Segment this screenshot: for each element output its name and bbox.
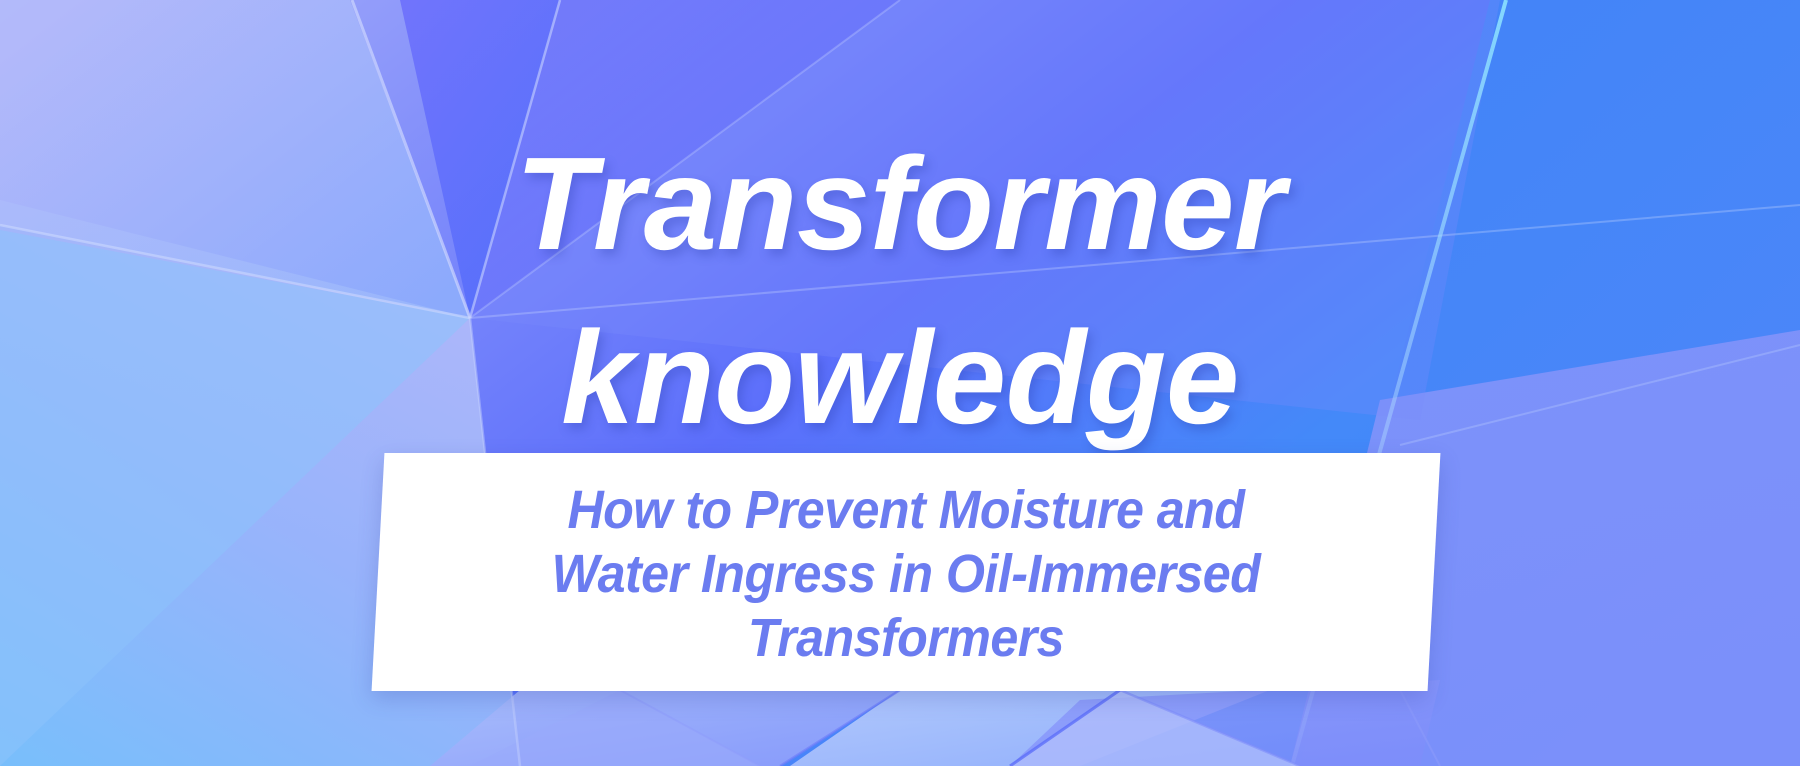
subtitle-line-3: Transformers xyxy=(748,606,1064,670)
subtitle-line-1: How to Prevent Moisture and xyxy=(568,478,1245,542)
transformer-knowledge-banner: Transformer knowledge How to Prevent Moi… xyxy=(0,0,1800,766)
banner-title-line-2: knowledge xyxy=(0,312,1800,444)
subtitle-card-content: How to Prevent Moisture and Water Ingres… xyxy=(378,453,1434,691)
subtitle-card: How to Prevent Moisture and Water Ingres… xyxy=(372,453,1441,691)
subtitle-line-2: Water Ingress in Oil-Immersed xyxy=(552,542,1261,606)
banner-title-line-1: Transformer xyxy=(0,138,1800,270)
